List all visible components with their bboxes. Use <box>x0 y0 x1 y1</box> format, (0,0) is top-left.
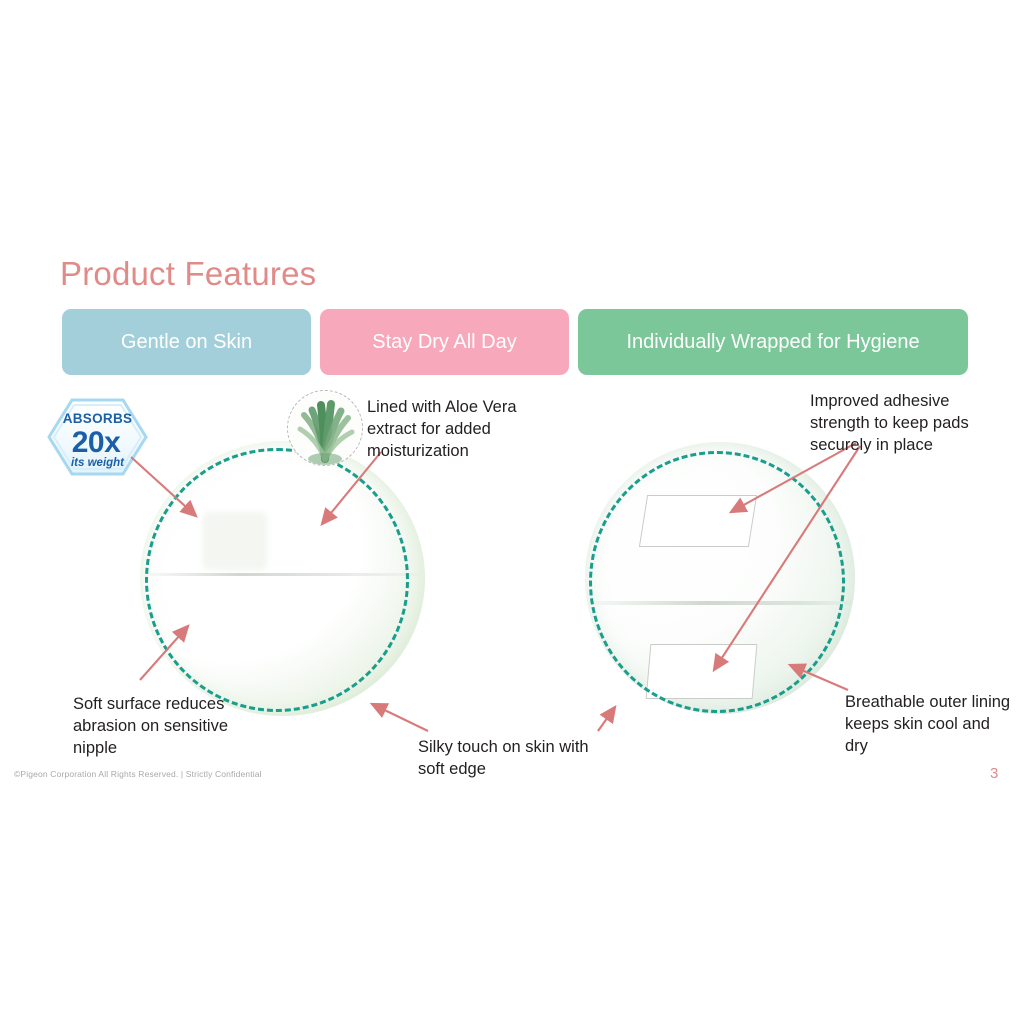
arrow-silky-touch-to-right-pad <box>598 707 615 731</box>
svg-text:20x: 20x <box>72 426 121 459</box>
page-number: 3 <box>990 765 998 782</box>
arrow-annotations-layer <box>0 0 1024 1024</box>
tab-individually-wrapped-for-hygiene[interactable]: Individually Wrapped for Hygiene <box>578 309 968 375</box>
slide-canvas: Product Features Gentle on Skin Stay Dry… <box>0 0 1024 1024</box>
tab-gentle-on-skin[interactable]: Gentle on Skin <box>62 309 311 375</box>
dashed-outline-left-icon <box>145 448 409 712</box>
callout-adhesive-strength: Improved adhesive strength to keep pads … <box>810 391 1005 457</box>
svg-text:its weight: its weight <box>71 457 125 469</box>
arrow-silky-touch-to-left-pad <box>372 704 428 731</box>
svg-text:ABSORBS: ABSORBS <box>63 411 133 426</box>
callout-soft-surface: Soft surface reduces abrasion on sensiti… <box>73 694 273 760</box>
callout-breathable-lining: Breathable outer lining keeps skin cool … <box>845 692 1015 758</box>
footer-copyright: ©Pigeon Corporation All Rights Reserved.… <box>14 769 262 779</box>
dashed-outline-right-icon <box>589 451 845 713</box>
callout-silky-touch: Silky touch on skin with soft edge <box>418 737 603 781</box>
tab-stay-dry-all-day[interactable]: Stay Dry All Day <box>320 309 569 375</box>
aloe-vera-icon <box>287 390 363 466</box>
tab-gentle-on-skin-label: Gentle on Skin <box>121 330 252 354</box>
callout-aloe-vera: Lined with Aloe Vera extract for added m… <box>367 397 547 463</box>
page-title: Product Features <box>60 255 316 293</box>
tab-stay-dry-all-day-label: Stay Dry All Day <box>372 330 516 354</box>
absorbs-badge-icon: ABSORBS 20x its weight <box>47 398 148 476</box>
tab-individually-wrapped-label: Individually Wrapped for Hygiene <box>626 330 919 354</box>
